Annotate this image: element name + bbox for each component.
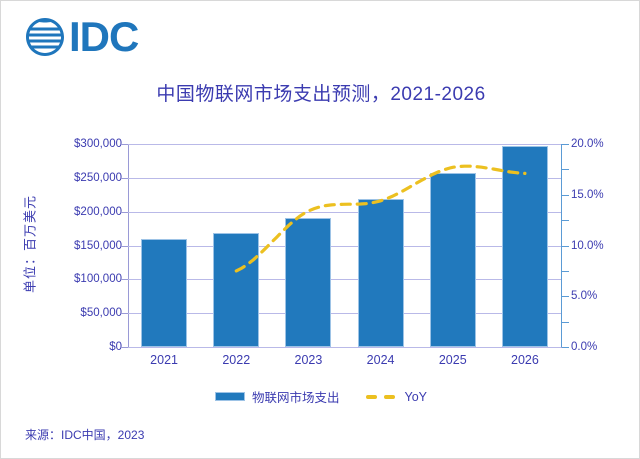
y-tick-left: $250,000 xyxy=(74,172,122,184)
tick-mark-right xyxy=(562,169,569,170)
y-axis-label-left: 单位：百万美元 xyxy=(20,195,39,293)
tick-mark-right xyxy=(562,144,569,145)
tick-mark-right xyxy=(562,322,569,323)
chart-title: 中国物联网市场支出预测，2021-2026 xyxy=(1,79,640,106)
y-tick-left: $300,000 xyxy=(74,138,122,150)
idc-globe-icon xyxy=(23,15,67,59)
y-tick-right: 20.0% xyxy=(571,138,604,150)
tick-mark-right xyxy=(562,271,569,272)
gridline xyxy=(128,347,561,348)
x-tick-2026: 2026 xyxy=(511,353,539,367)
legend-label-bar: 物联网市场支出 xyxy=(252,387,340,406)
y-tick-right: 10.0% xyxy=(571,240,604,252)
x-tick-2022: 2022 xyxy=(222,353,250,367)
legend-label-yoy: YoY xyxy=(405,390,427,404)
x-tick-2024: 2024 xyxy=(367,353,395,367)
x-axis-ticks: 202120222023202420252026 xyxy=(128,353,562,373)
y-tick-left: $50,000 xyxy=(80,307,122,319)
source-note: 来源：IDC中国，2023 xyxy=(25,426,144,443)
plot-area xyxy=(128,144,561,347)
idc-logo: IDC xyxy=(23,15,138,59)
y-tick-left: $100,000 xyxy=(74,273,122,285)
tick-mark-left xyxy=(121,212,128,213)
y-tick-right: 15.0% xyxy=(571,189,604,201)
y-tick-right: 5.0% xyxy=(571,290,597,302)
y-axis-ticks-left: $0$50,000$100,000$150,000$200,000$250,00… xyxy=(56,144,122,347)
tick-mark-left xyxy=(121,144,128,145)
idc-logo-text: IDC xyxy=(69,16,138,58)
legend-swatch-dashed-line-icon xyxy=(366,395,398,399)
tick-mark-right xyxy=(562,195,569,196)
tick-mark-right xyxy=(562,220,569,221)
chart-page: IDC 中国物联网市场支出预测，2021-2026 单位：百万美元 $0$50,… xyxy=(0,0,640,459)
y-tick-left: $150,000 xyxy=(74,240,122,252)
legend-item-bar[interactable]: 物联网市场支出 xyxy=(215,387,340,406)
x-tick-2023: 2023 xyxy=(295,353,323,367)
tick-mark-right xyxy=(562,347,569,348)
tick-mark-left xyxy=(121,313,128,314)
tick-mark-right xyxy=(562,246,569,247)
legend-swatch-bar-icon xyxy=(215,392,245,401)
y-tick-left: $200,000 xyxy=(74,206,122,218)
tick-mark-left xyxy=(121,246,128,247)
tick-mark-left xyxy=(121,279,128,280)
yoy-line-series xyxy=(128,144,561,347)
x-tick-2021: 2021 xyxy=(150,353,178,367)
y-axis-ticks-right: 0.0%5.0%10.0%15.0%20.0% xyxy=(571,144,635,347)
tick-mark-left xyxy=(121,347,128,348)
chart-legend: 物联网市场支出 YoY xyxy=(1,387,640,406)
y-tick-right: 0.0% xyxy=(571,341,597,353)
tick-mark-right xyxy=(562,296,569,297)
tick-mark-left xyxy=(121,178,128,179)
legend-item-yoy[interactable]: YoY xyxy=(366,390,427,404)
x-tick-2025: 2025 xyxy=(439,353,467,367)
